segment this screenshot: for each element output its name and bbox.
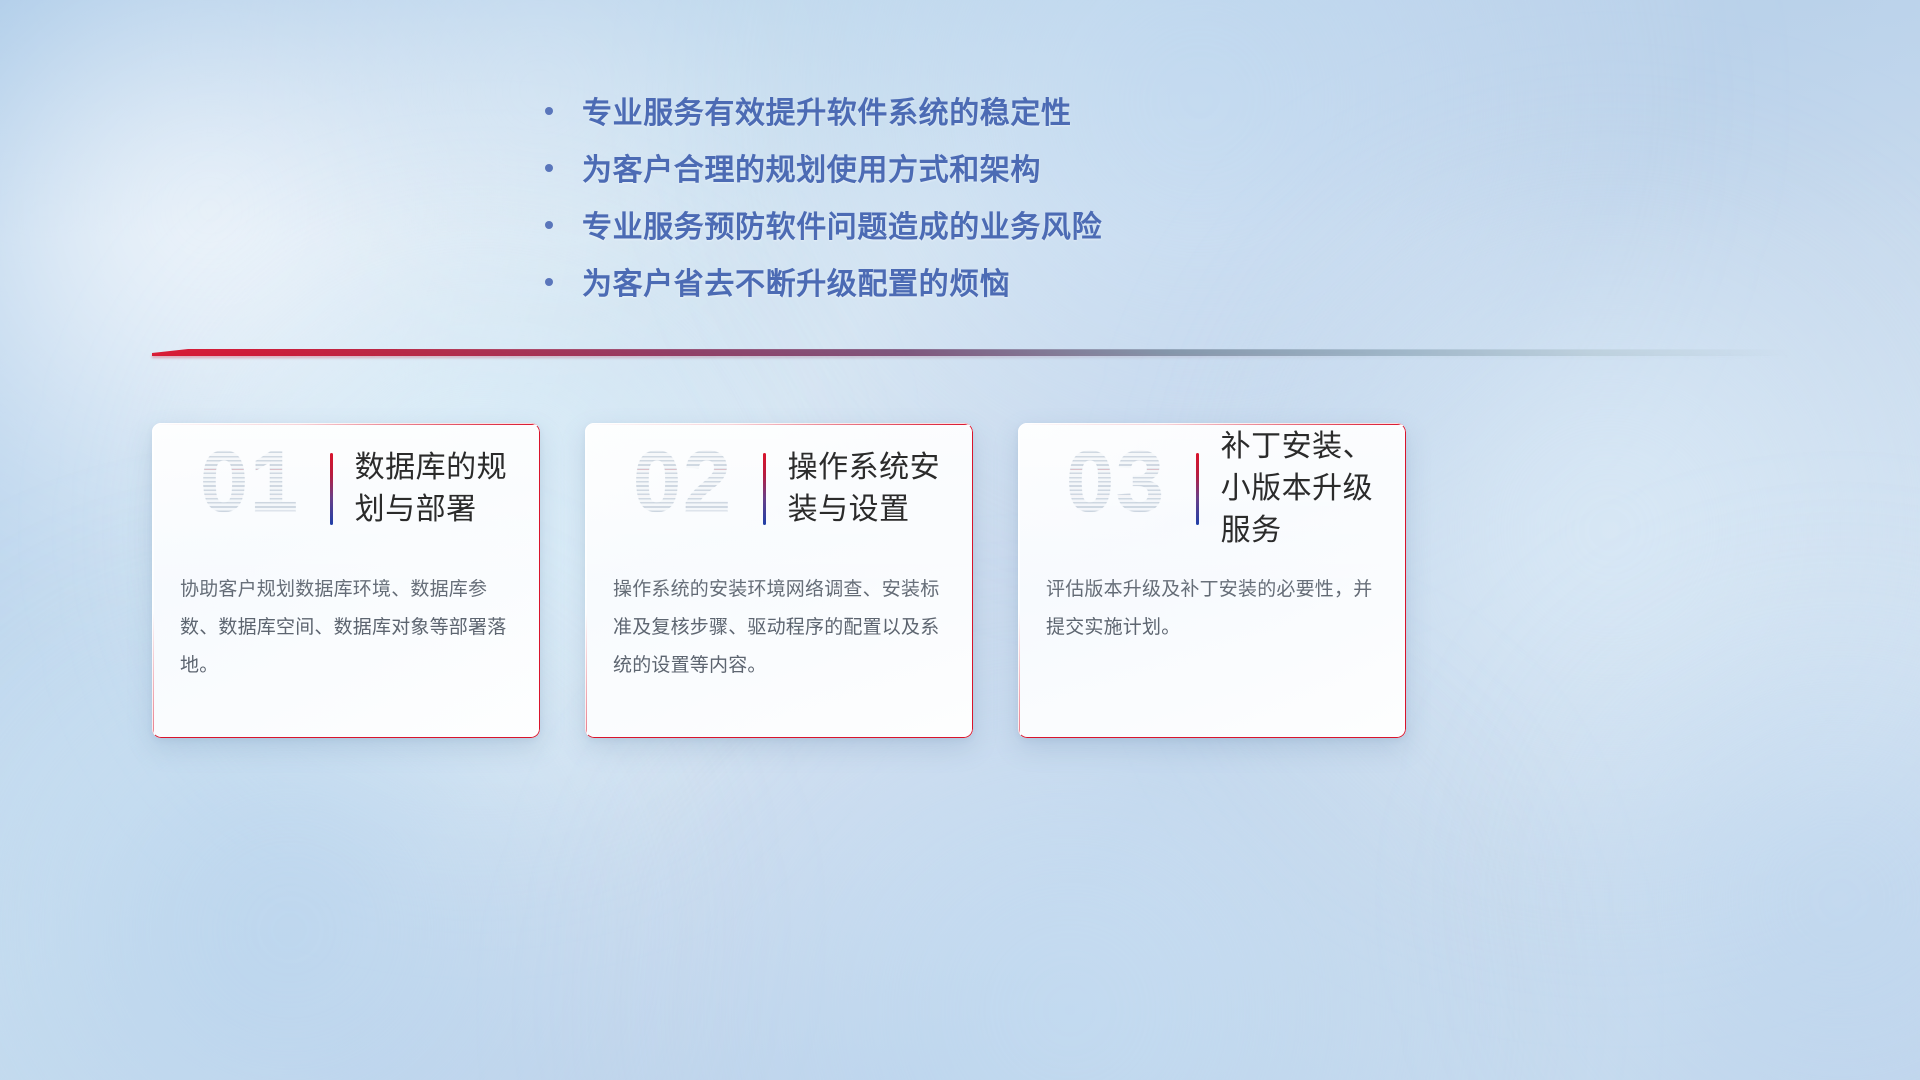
service-card-02[interactable]: 02 操作系统安装与设置 操作系统的安装环境网络调查、安装标准及复核步骤、驱动程… [585,423,973,738]
bullet-text: 专业服务有效提升软件系统的稳定性 [582,92,1072,136]
bullet-dot-icon [545,221,553,229]
card-number-watermark: 03 [1040,441,1192,537]
card-description: 评估版本升级及补丁安装的必要性，并提交实施计划。 [1018,555,1406,647]
card-description: 协助客户规划数据库环境、数据库参数、数据库空间、数据库对象等部署落地。 [152,555,540,685]
card-title: 操作系统安装与设置 [788,447,949,531]
service-card-list: 01 数据库的规划与部署 协助客户规划数据库环境、数据库参数、数据库空间、数据库… [152,423,1768,738]
list-item: 专业服务有效提升软件系统的稳定性 [545,92,1385,136]
card-header: 01 数据库的规划与部署 [152,423,540,555]
card-number-watermark: 02 [607,441,759,537]
card-header: 02 操作系统安装与设置 [585,423,973,555]
card-description: 操作系统的安装环境网络调查、安装标准及复核步骤、驱动程序的配置以及系统的设置等内… [585,555,973,685]
card-title: 数据库的规划与部署 [355,447,516,531]
card-header: 03 补丁安装、小版本升级服务 [1018,423,1406,555]
card-divider-bar [1196,453,1199,525]
list-item: 为客户合理的规划使用方式和架构 [545,149,1385,193]
card-divider-bar [330,453,333,525]
bullet-dot-icon [545,278,553,286]
divider-bar-shadow [152,355,1792,358]
card-divider-bar [763,453,766,525]
service-card-01[interactable]: 01 数据库的规划与部署 协助客户规划数据库环境、数据库参数、数据库空间、数据库… [152,423,540,738]
card-number-watermark: 01 [174,441,326,537]
bullet-text: 专业服务预防软件问题造成的业务风险 [582,206,1102,250]
card-number: 01 [174,439,326,525]
card-number: 03 [1040,439,1192,525]
service-card-03[interactable]: 03 补丁安装、小版本升级服务 评估版本升级及补丁安装的必要性，并提交实施计划。 [1018,423,1406,738]
section-divider [152,345,1792,361]
bullet-dot-icon [545,164,553,172]
card-title: 补丁安装、小版本升级服务 [1221,426,1382,552]
bullet-dot-icon [545,107,553,115]
list-item: 专业服务预防软件问题造成的业务风险 [545,206,1385,250]
list-item: 为客户省去不断升级配置的烦恼 [545,263,1385,307]
card-number: 02 [607,439,759,525]
bullet-text: 为客户合理的规划使用方式和架构 [582,149,1041,193]
benefits-bullet-list: 专业服务有效提升软件系统的稳定性 为客户合理的规划使用方式和架构 专业服务预防软… [545,92,1385,320]
bullet-text: 为客户省去不断升级配置的烦恼 [582,263,1010,307]
